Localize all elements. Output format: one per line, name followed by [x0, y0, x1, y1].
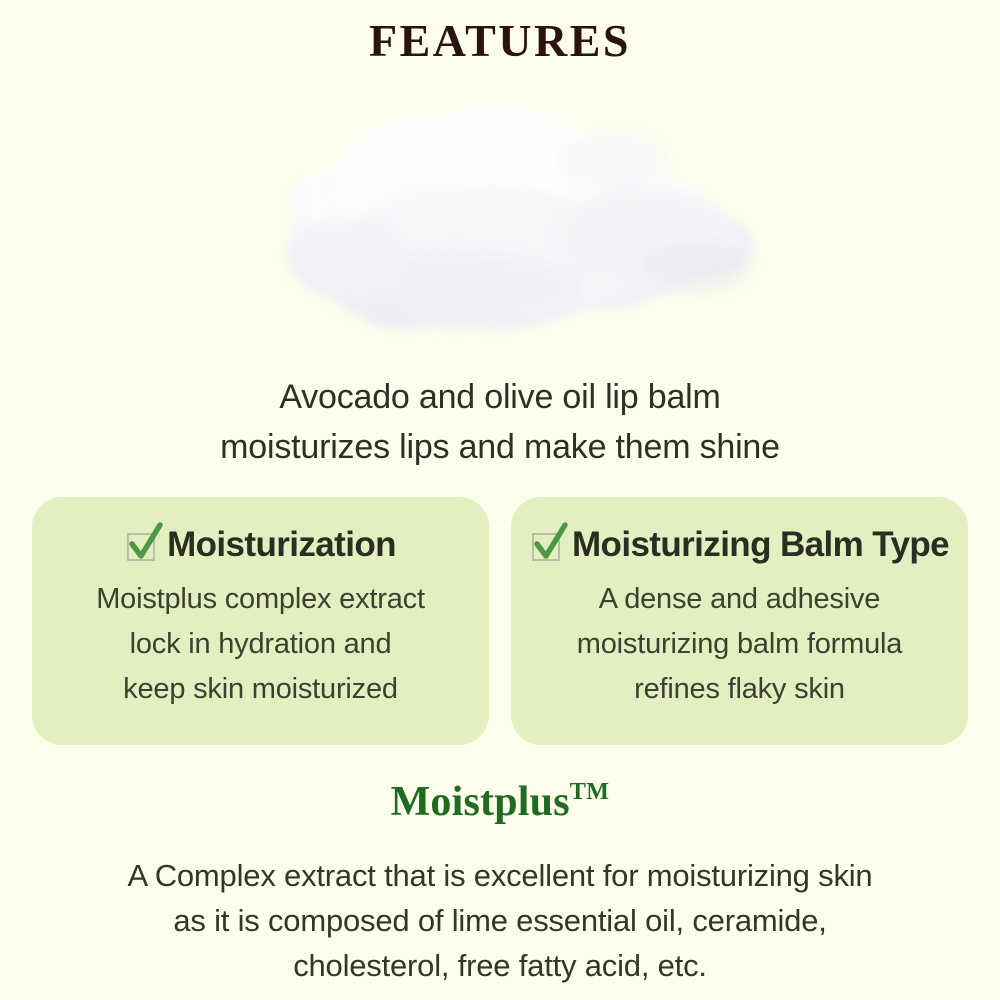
feature-card-body: Moistplus complex extract lock in hydrat… [32, 577, 489, 712]
brand-word: Moistplus [391, 779, 570, 825]
feature-body-line: lock in hydration and [32, 622, 489, 667]
intro-line-2: moisturizes lips and make them shine [0, 422, 1000, 472]
intro-text: Avocado and olive oil lip balm moisturiz… [0, 372, 1000, 472]
brand-name: MoistplusTM [0, 778, 1000, 826]
feature-body-line: refines flaky skin [511, 667, 968, 712]
footer-description: A Complex extract that is excellent for … [0, 853, 1000, 988]
feature-card-header: Moisturizing Balm Type [511, 521, 968, 569]
feature-body-line: moisturizing balm formula [511, 622, 968, 667]
footer-line-3: cholesterol, free fatty acid, etc. [0, 943, 1000, 988]
feature-body-line: A dense and adhesive [511, 577, 968, 622]
features-page: FEATURES [0, 0, 1000, 1000]
trademark-symbol: TM [570, 779, 610, 805]
feature-card-moisturization: Moisturization Moistplus complex extract… [32, 497, 489, 745]
feature-body-line: keep skin moisturized [32, 667, 489, 712]
intro-line-1: Avocado and olive oil lip balm [0, 372, 1000, 422]
feature-card-header: Moisturization [32, 521, 489, 569]
checkbox-checked-icon [125, 528, 159, 562]
feature-card-title: Moisturizing Balm Type [572, 525, 949, 565]
feature-card-moisturizing-balm-type: Moisturizing Balm Type A dense and adhes… [511, 497, 968, 745]
footer-line-2: as it is composed of lime essential oil,… [0, 898, 1000, 943]
feature-card-title: Moisturization [167, 525, 396, 565]
footer-line-1: A Complex extract that is excellent for … [0, 853, 1000, 898]
checkbox-checked-icon [530, 528, 564, 562]
page-title: FEATURES [0, 14, 1000, 67]
feature-body-line: Moistplus complex extract [32, 577, 489, 622]
lip-balm-swatch-image [225, 98, 780, 353]
feature-cards: Moisturization Moistplus complex extract… [32, 497, 968, 745]
feature-card-body: A dense and adhesive moisturizing balm f… [511, 577, 968, 712]
